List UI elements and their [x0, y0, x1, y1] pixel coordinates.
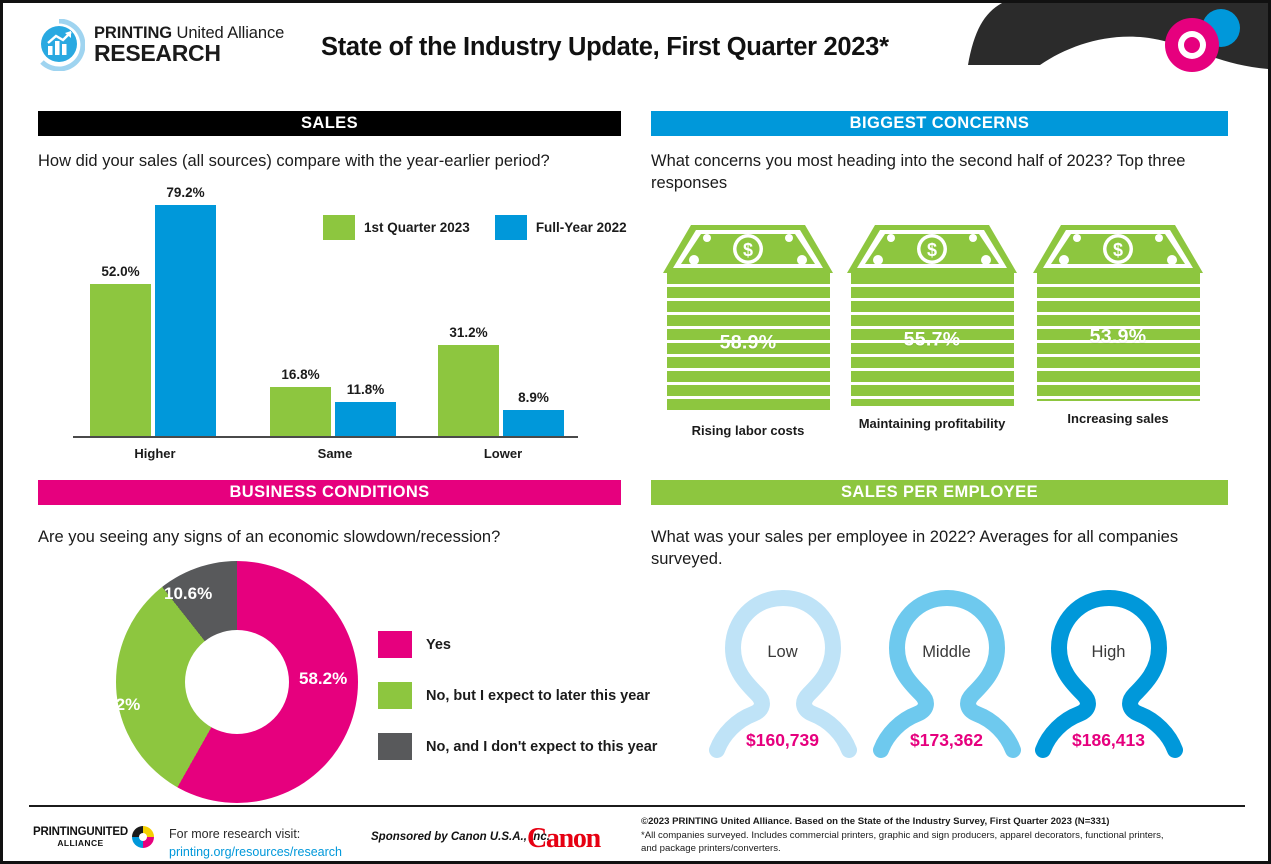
dollar-bill-icon: $	[847, 225, 1017, 273]
dollar-bill-icon: $	[663, 225, 833, 273]
bar-value-label: 11.8%	[347, 382, 385, 397]
more-research-label: For more research visit:	[169, 826, 342, 844]
bar-group-higher: 52.0% 79.2%	[90, 205, 216, 436]
person-figure-low: Low $160,739	[695, 588, 870, 760]
donut-legend: Yes No, but I expect to later this year …	[378, 631, 657, 784]
infographic-page: PRINTING United Alliance RESEARCH State …	[0, 0, 1271, 864]
stack-caption: Rising labor costs	[663, 423, 833, 438]
donut-legend-item-no-later: No, but I expect to later this year	[378, 682, 657, 709]
logo-wordmark: PRINTING United Alliance RESEARCH	[94, 25, 284, 66]
bar-fy-higher: 79.2%	[155, 205, 216, 436]
bar-chart-legend: 1st Quarter 2023 Full-Year 2022	[323, 215, 627, 240]
section-band-sales-per-employee: SALES PER EMPLOYEE	[651, 480, 1228, 505]
legend-swatch-gray	[378, 733, 412, 760]
copyright-line-3: and package printers/converters.	[641, 842, 1241, 856]
legend-label-q1-2023: 1st Quarter 2023	[364, 220, 470, 235]
concerns-money-stacks: $ 58.9% Rising labor costs $ 55.7%	[651, 225, 1228, 445]
bar-category-same: Same	[318, 446, 353, 461]
sales-bar-chart: 1st Quarter 2023 Full-Year 2022 52.0% 79…	[38, 198, 638, 463]
bar-chart-axis-line	[73, 436, 578, 438]
research-url-link[interactable]: printing.org/resources/research	[169, 844, 342, 862]
bar-q1-higher: 52.0%	[90, 284, 151, 436]
stack-caption: Maintaining profitability	[847, 416, 1017, 431]
bar-value-label: 31.2%	[449, 325, 487, 340]
donut-label-yes: 58.2%	[299, 669, 347, 689]
concerns-question: What concerns you most heading into the …	[651, 151, 1196, 195]
dollar-bill-icon: $	[1033, 225, 1203, 273]
stack-percent-label: 58.9%	[667, 332, 830, 355]
recession-donut-chart: 58.2% 31.2% 10.6%	[116, 561, 358, 803]
printing-united-alliance-logo: PRINTINGUNITED ALLIANCE	[33, 825, 155, 849]
pua-logo-line-1: PRINTINGUNITED	[33, 827, 128, 839]
stack-percent-label: 53.9%	[1037, 326, 1200, 349]
page-header: PRINTING United Alliance RESEARCH State …	[3, 3, 1268, 95]
legend-swatch-fy-2022	[495, 215, 527, 240]
section-band-biggest-concerns: BIGGEST CONCERNS	[651, 111, 1228, 136]
bar-category-higher: Higher	[134, 446, 175, 461]
person-figure-high: High $186,413	[1021, 588, 1196, 760]
page-footer: PRINTINGUNITED ALLIANCE For more researc…	[29, 809, 1245, 861]
canon-logo: Canon	[527, 823, 600, 855]
more-research-block: For more research visit: printing.org/re…	[169, 826, 342, 862]
stack-layers: 58.9%	[667, 273, 830, 413]
svg-text:$: $	[927, 240, 937, 260]
legend-swatch-q1-2023	[323, 215, 355, 240]
copyright-line-1: ©2023 PRINTING United Alliance. Based on…	[641, 815, 1241, 829]
stack-layers: 53.9%	[1037, 273, 1200, 401]
legend-label: Yes	[426, 637, 451, 653]
sales-per-employee-question: What was your sales per employee in 2022…	[651, 527, 1181, 571]
donut-legend-item-no-not-expect: No, and I don't expect to this year	[378, 733, 657, 760]
bar-value-label: 8.9%	[518, 390, 549, 405]
legend-swatch-green	[378, 682, 412, 709]
sales-question: How did your sales (all sources) compare…	[38, 151, 638, 173]
person-figure-middle: Middle $173,362	[859, 588, 1034, 760]
person-tier-label: Low	[695, 643, 870, 662]
money-stack-maintaining-profitability: $ 55.7% Maintaining profitability	[847, 225, 1017, 431]
stack-percent-label: 55.7%	[851, 328, 1014, 351]
donut-label-no-not-expect: 10.6%	[164, 584, 212, 604]
copyright-line-2: *All companies surveyed. Includes commer…	[641, 829, 1241, 843]
stack-layers: 55.7%	[851, 273, 1014, 406]
person-tier-label: High	[1021, 643, 1196, 662]
sponsor-text: Sponsored by Canon U.S.A., Inc.	[371, 831, 550, 843]
money-stack-rising-labor-costs: $ 58.9% Rising labor costs	[663, 225, 833, 438]
bar-group-same: 16.8% 11.8%	[270, 387, 396, 436]
stack-caption: Increasing sales	[1033, 411, 1203, 426]
bar-fy-same: 11.8%	[335, 402, 396, 436]
logo-line-2: RESEARCH	[94, 42, 284, 65]
pua-colorwheel-icon	[131, 825, 155, 849]
bar-value-label: 52.0%	[101, 264, 139, 279]
legend-label-fy-2022: Full-Year 2022	[536, 220, 627, 235]
person-value-label: $186,413	[1021, 730, 1196, 751]
pua-wordmark: PRINTINGUNITED ALLIANCE	[33, 827, 128, 847]
business-question: Are you seeing any signs of an economic …	[38, 527, 638, 549]
header-swoosh-decoration	[968, 3, 1268, 93]
legend-label: No, but I expect to later this year	[426, 688, 650, 704]
bar-category-lower: Lower	[484, 446, 522, 461]
donut-center-hole	[185, 630, 289, 734]
section-band-sales: SALES	[38, 111, 621, 136]
section-band-business-conditions: BUSINESS CONDITIONS	[38, 480, 621, 505]
bar-value-label: 79.2%	[166, 185, 204, 200]
page-title: State of the Industry Update, First Quar…	[321, 33, 889, 62]
pua-logo-line-2: ALLIANCE	[33, 839, 128, 848]
person-value-label: $160,739	[695, 730, 870, 751]
pua-research-logo: PRINTING United Alliance RESEARCH	[33, 19, 284, 71]
legend-label: No, and I don't expect to this year	[426, 739, 657, 755]
bar-value-label: 16.8%	[281, 367, 319, 382]
bar-group-lower: 31.2% 8.9%	[438, 345, 564, 436]
legend-swatch-magenta	[378, 631, 412, 658]
footer-divider	[29, 805, 1245, 807]
donut-legend-item-yes: Yes	[378, 631, 657, 658]
donut-label-no-later: 31.2%	[92, 695, 140, 715]
research-chart-icon	[33, 19, 85, 71]
bar-fy-lower: 8.9%	[503, 410, 564, 436]
svg-text:$: $	[743, 240, 753, 260]
bar-q1-same: 16.8%	[270, 387, 331, 436]
bar-q1-lower: 31.2%	[438, 345, 499, 436]
person-tier-label: Middle	[859, 643, 1034, 662]
svg-text:$: $	[1113, 240, 1123, 260]
logo-line-1: PRINTING United Alliance	[94, 25, 284, 42]
person-value-label: $173,362	[859, 730, 1034, 751]
swoosh-svg	[968, 3, 1268, 93]
copyright-block: ©2023 PRINTING United Alliance. Based on…	[641, 815, 1241, 856]
sales-per-employee-figures: Low $160,739 Middle $173,362 High $186,4…	[651, 588, 1228, 778]
money-stack-increasing-sales: $ 53.9% Increasing sales	[1033, 225, 1203, 426]
